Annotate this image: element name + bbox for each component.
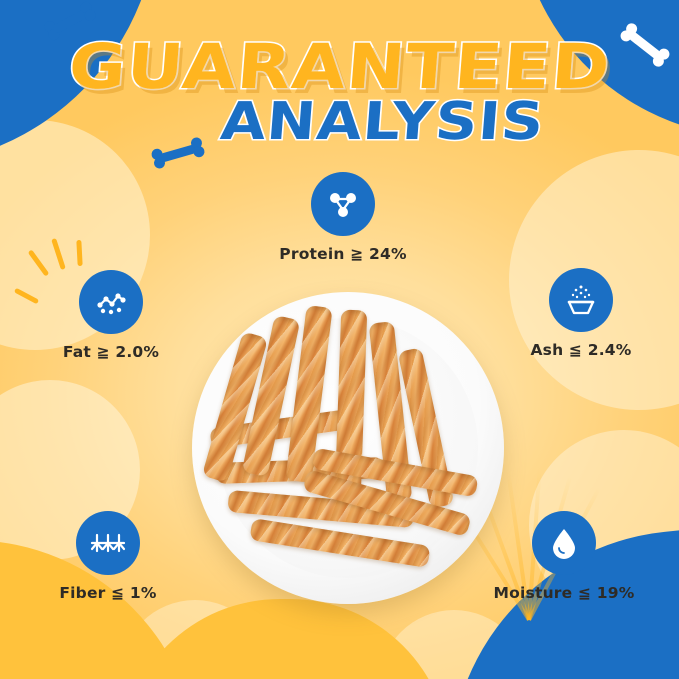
nutrient-badge-fat: Fat ≧ 2.0% xyxy=(36,270,186,361)
guaranteed-analysis-poster: GUARANTEED ANALYSIS xyxy=(0,0,679,679)
nutrient-label: Fat ≧ 2.0% xyxy=(36,343,186,361)
fat-droplet-dots-icon xyxy=(92,283,130,321)
nutrient-icon-circle xyxy=(79,270,143,334)
nutrient-label: Fiber ≦ 1% xyxy=(33,584,183,602)
fiber-strands-icon xyxy=(88,523,128,563)
page-title: GUARANTEED ANALYSIS xyxy=(0,34,679,150)
nutrient-icon-circle xyxy=(549,268,613,332)
ash-scoop-icon xyxy=(562,281,600,319)
product-photo xyxy=(192,292,504,604)
water-drop-icon xyxy=(547,526,581,560)
nutrient-icon-circle xyxy=(76,511,140,575)
nutrient-badge-protein: Protein ≧ 24% xyxy=(268,172,418,263)
nutrient-icon-circle xyxy=(532,511,596,575)
nutrient-label: Ash ≦ 2.4% xyxy=(506,341,656,359)
protein-molecule-icon xyxy=(324,185,362,223)
nutrient-icon-circle xyxy=(311,172,375,236)
nutrient-label: Protein ≧ 24% xyxy=(268,245,418,263)
title-line-analysis: ANALYSIS xyxy=(219,95,547,150)
nutrient-badge-ash: Ash ≦ 2.4% xyxy=(506,268,656,359)
nutrient-label: Moisture ≦ 19% xyxy=(489,584,639,602)
nutrient-badge-moisture: Moisture ≦ 19% xyxy=(489,511,639,602)
title-line-guaranteed: GUARANTEED xyxy=(66,34,612,99)
nutrient-badge-fiber: Fiber ≦ 1% xyxy=(33,511,183,602)
